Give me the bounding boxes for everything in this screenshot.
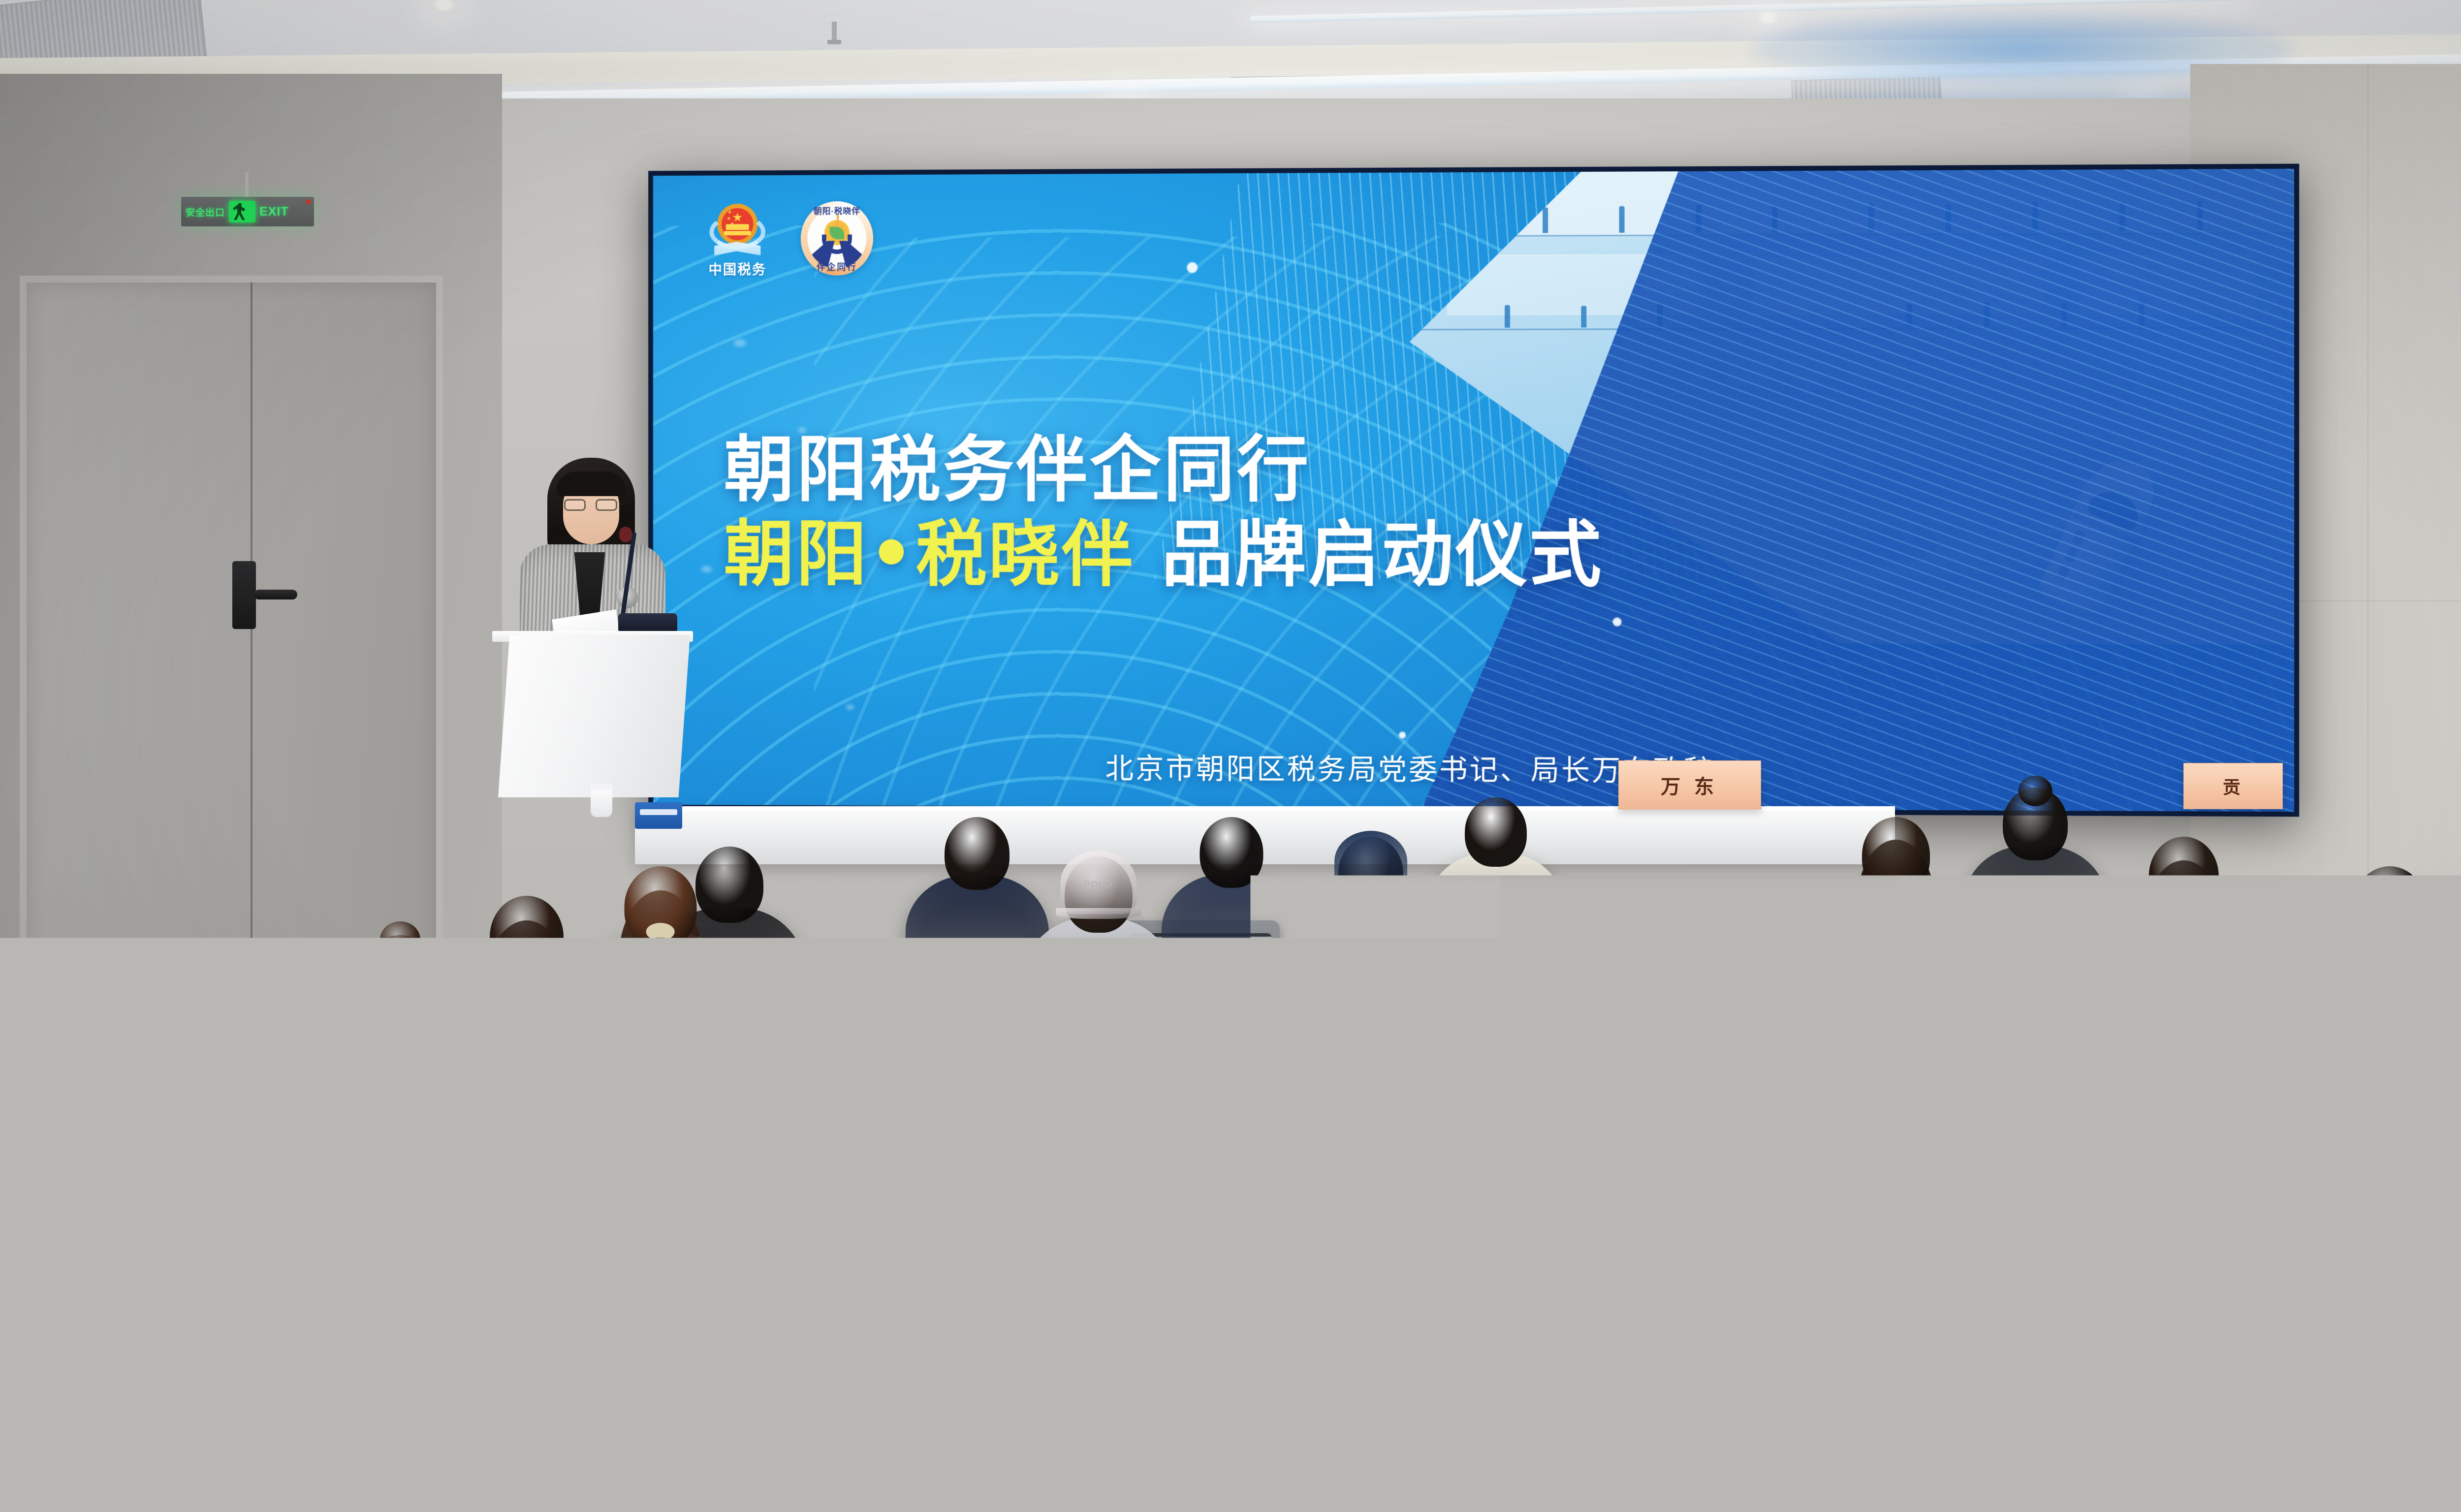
conference-room-photo: 安全出口 EXIT <box>0 0 2461 1512</box>
audience-member <box>2215 1171 2451 1506</box>
audience-member-head <box>1862 817 1930 893</box>
china-taxation-emblem: 中国税务 <box>701 202 774 279</box>
speaker-at-lectern <box>502 458 679 645</box>
audience-member-head <box>490 896 564 978</box>
bokeh-dot <box>701 566 712 572</box>
screen-title-block: 朝阳税务伴企同行 朝阳•税晓伴 品牌启动仪式 <box>724 433 2234 593</box>
station-figure <box>1619 206 1625 233</box>
name-card-wan-dong: 万 东 <box>1618 760 1761 810</box>
station-figure <box>1581 306 1586 327</box>
audience-member <box>1162 817 1301 1015</box>
china-taxation-caption: 中国税务 <box>701 259 774 279</box>
exit-sign: 安全出口 EXIT <box>181 197 314 226</box>
audience-member <box>2107 837 2261 1056</box>
brand-logo-bottom-text: 伴企同行 <box>801 260 873 273</box>
name-card-char-2: 东 <box>1694 771 1719 799</box>
audience-member-torso <box>1713 985 1884 1140</box>
audience-member-head <box>89 1230 203 1358</box>
audience-member <box>212 1280 472 1512</box>
audience-member-torso <box>1964 846 2107 976</box>
audience-member <box>2308 866 2461 1097</box>
audience-member-head <box>1125 1196 1235 1320</box>
brand-logo-top-text: 朝阳·税晓伴 <box>801 204 873 217</box>
audience-member <box>1506 975 1678 1219</box>
audience-member-torso <box>1024 917 1173 1053</box>
sparkle <box>1612 618 1621 627</box>
audience-member-torso <box>2308 932 2461 1080</box>
audience-member-ponytail <box>823 1171 873 1311</box>
hair-bun <box>2019 776 2052 806</box>
led-screen-content: 中国税务 朝阳·税晓伴 伴企同行 朝阳税务伴企同行 <box>653 169 2294 812</box>
cap-brand-label: POLO <box>1084 879 1113 890</box>
audience-member-torso <box>1427 853 1564 977</box>
tissue-box <box>635 802 682 829</box>
audience-member-head <box>227 1078 334 1198</box>
sprinkler-head <box>832 22 837 44</box>
led-presentation-screen: 中国税务 朝阳·税晓伴 伴企同行 朝阳税务伴企同行 <box>648 164 2299 817</box>
audience-member-ponytail <box>580 1249 632 1393</box>
speaker-fringe <box>556 472 626 496</box>
audience-member <box>738 1073 958 1384</box>
audience-member-head <box>2149 837 2219 915</box>
national-emblem-icon <box>709 202 765 256</box>
running-person-exit-icon <box>229 201 255 222</box>
water-cup <box>591 787 612 817</box>
screen-logo-row: 中国税务 朝阳·税晓伴 伴企同行 <box>701 201 873 279</box>
audience-member <box>1427 797 1564 991</box>
exit-sign-indicator <box>306 200 311 204</box>
chair-leg <box>473 1162 479 1309</box>
audience-member-head <box>1199 817 1263 888</box>
audience-member-torso <box>1506 1044 1678 1201</box>
hair-bun <box>380 921 420 958</box>
door-lever-handle[interactable] <box>232 561 256 629</box>
audience-member-head <box>945 817 1010 890</box>
exit-sign-chinese: 安全出口 <box>186 205 225 219</box>
lectern <box>498 635 690 797</box>
name-card-char-1: 万 <box>1661 771 1685 799</box>
audience-member-head <box>1888 1181 1998 1305</box>
door-split <box>251 283 252 1046</box>
audience-member-torso <box>1299 895 1442 1025</box>
audience-member-head <box>1553 975 1631 1062</box>
ceiling-downlight <box>1757 10 1779 25</box>
audience-member <box>1964 787 2107 990</box>
microphone-base <box>618 613 677 633</box>
audience-member-ponytail <box>642 938 679 1039</box>
audience-member <box>1713 915 1884 1157</box>
exit-sign-rod <box>245 172 249 198</box>
audience-member <box>492 1147 720 1469</box>
audience-member-head <box>1496 1221 1611 1349</box>
exit-sign-english: EXIT <box>259 205 289 219</box>
eyeglasses-icon <box>564 499 617 511</box>
audience-member-head <box>2279 1171 2387 1291</box>
name-card-secondary: 贡 <box>2183 763 2283 809</box>
chair-leg <box>1762 1230 1769 1378</box>
cap-blue-icon <box>276 1269 408 1381</box>
name-card-char: 贡 <box>2223 773 2243 799</box>
audience-member-head <box>1760 915 1837 1002</box>
audience-member-head <box>1465 797 1527 867</box>
audience-member <box>1821 1181 2065 1512</box>
sparkle <box>1399 732 1406 739</box>
chaoyang-brand-logo: 朝阳·税晓伴 伴企同行 <box>801 201 873 276</box>
microphone-head <box>619 527 632 542</box>
bokeh-dot <box>733 339 746 347</box>
screen-title-white: 品牌启动仪式 <box>1162 512 1604 597</box>
sparkle <box>1187 262 1198 273</box>
screen-title-line-2: 朝阳•税晓伴 品牌启动仪式 <box>724 518 2234 593</box>
audience-member <box>1427 1221 1679 1512</box>
screen-title-highlight: 朝阳•税晓伴 <box>724 512 1135 596</box>
station-figure <box>1505 305 1510 328</box>
audience-member-head <box>2353 866 2427 949</box>
audience-member-torso <box>2215 1267 2451 1481</box>
screen-title-line-1: 朝阳税务伴企同行 <box>724 433 2234 506</box>
audience-member <box>1299 837 1442 1039</box>
cap-navy-icon <box>1334 831 1407 892</box>
station-figure <box>1543 207 1548 233</box>
audience-member <box>1058 1196 1302 1512</box>
audience-member-torso <box>1162 874 1301 1001</box>
audience-member: POLO <box>1024 856 1173 1069</box>
